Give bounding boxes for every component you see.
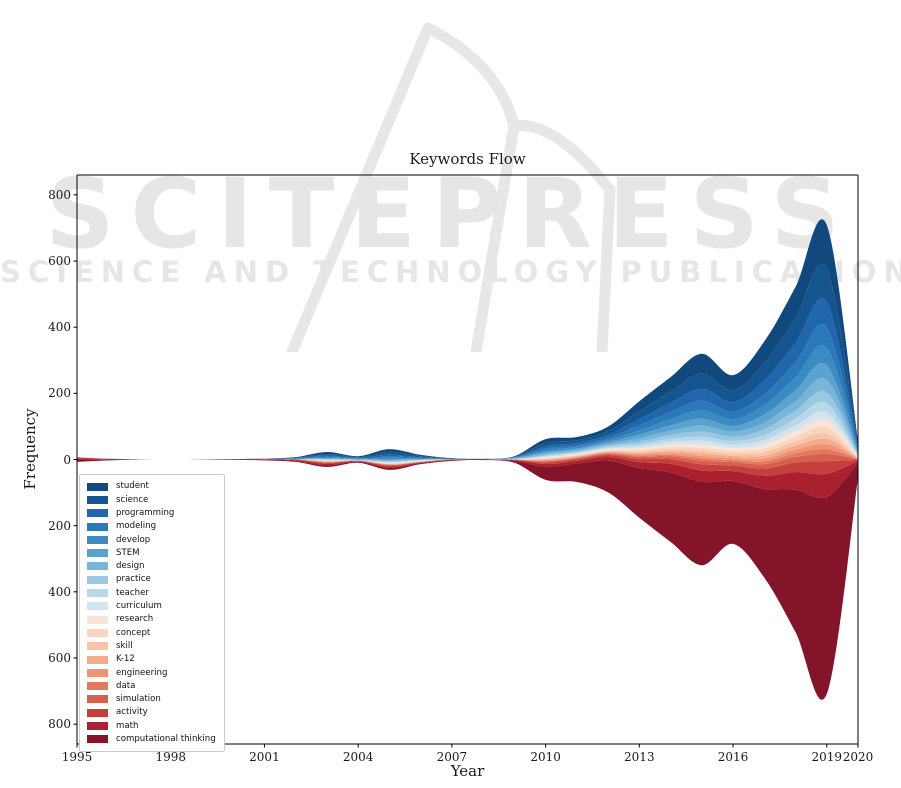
y-tick-label: 400 <box>31 320 71 334</box>
legend-item[interactable]: practice <box>87 573 218 586</box>
legend-item[interactable]: concept <box>87 626 218 639</box>
legend-item[interactable]: curriculum <box>87 600 218 613</box>
figure-canvas: SCITEPRESS SCIENCE AND TECHNOLOGY PUBLIC… <box>0 0 901 784</box>
legend-item-label: science <box>116 496 148 505</box>
legend-color-swatch <box>87 669 108 677</box>
legend-item-label: develop <box>116 536 150 545</box>
legend-color-swatch <box>87 589 108 597</box>
chart-title: Keywords Flow <box>77 150 858 168</box>
y-tick-label: 200 <box>31 519 71 533</box>
y-tick-label: 600 <box>31 254 71 268</box>
legend-item-label: practice <box>116 575 151 584</box>
legend-color-swatch <box>87 562 108 570</box>
legend-item[interactable]: simulation <box>87 693 218 706</box>
legend-item-label: data <box>116 682 135 691</box>
legend-color-swatch <box>87 709 108 717</box>
legend-color-swatch <box>87 523 108 531</box>
legend-item[interactable]: modeling <box>87 520 218 533</box>
legend-item-label: math <box>116 722 138 731</box>
legend-item-label: skill <box>116 642 133 651</box>
legend-item[interactable]: STEM <box>87 546 218 559</box>
legend-item[interactable]: science <box>87 493 218 506</box>
legend-item-label: design <box>116 562 145 571</box>
legend-color-swatch <box>87 509 108 517</box>
legend-color-swatch <box>87 722 108 730</box>
legend-item[interactable]: teacher <box>87 586 218 599</box>
legend-item[interactable]: skill <box>87 640 218 653</box>
legend-item-label: student <box>116 482 149 491</box>
y-tick-label: 400 <box>31 585 71 599</box>
legend-item[interactable]: computational thinking <box>87 733 218 746</box>
legend-color-swatch <box>87 616 108 624</box>
legend-color-swatch <box>87 656 108 664</box>
legend-color-swatch <box>87 536 108 544</box>
legend-item[interactable]: activity <box>87 706 218 719</box>
plot-layer: Keywords Flow 19951998200120042007201020… <box>0 0 901 784</box>
legend-item-label: STEM <box>116 549 140 558</box>
legend-item[interactable]: design <box>87 560 218 573</box>
legend-item[interactable]: math <box>87 719 218 732</box>
y-axis-label: Frequency <box>21 389 39 509</box>
legend-item-label: K-12 <box>116 655 135 664</box>
x-axis-label: Year <box>77 762 858 780</box>
legend-item-label: engineering <box>116 669 167 678</box>
chart-legend[interactable]: studentscienceprogrammingmodelingdevelop… <box>79 474 225 752</box>
legend-color-swatch <box>87 496 108 504</box>
legend-item-label: concept <box>116 629 150 638</box>
legend-item[interactable]: engineering <box>87 666 218 679</box>
legend-color-swatch <box>87 695 108 703</box>
legend-color-swatch <box>87 576 108 584</box>
legend-item-label: curriculum <box>116 602 162 611</box>
legend-color-swatch <box>87 642 108 650</box>
legend-item[interactable]: K-12 <box>87 653 218 666</box>
legend-item-label: computational thinking <box>116 735 216 744</box>
legend-color-swatch <box>87 682 108 690</box>
legend-item-label: activity <box>116 708 148 717</box>
legend-item-label: simulation <box>116 695 161 704</box>
legend-color-swatch <box>87 483 108 491</box>
y-tick-label: 600 <box>31 651 71 665</box>
legend-item[interactable]: programming <box>87 507 218 520</box>
y-tick-label: 800 <box>31 188 71 202</box>
legend-color-swatch <box>87 549 108 557</box>
legend-item-label: research <box>116 615 153 624</box>
legend-item[interactable]: develop <box>87 533 218 546</box>
legend-color-swatch <box>87 629 108 637</box>
legend-color-swatch <box>87 602 108 610</box>
legend-item-label: programming <box>116 509 174 518</box>
y-tick-label: 800 <box>31 717 71 731</box>
legend-item[interactable]: student <box>87 480 218 493</box>
legend-item-label: teacher <box>116 589 149 598</box>
legend-item[interactable]: data <box>87 679 218 692</box>
legend-item-label: modeling <box>116 522 156 531</box>
legend-item[interactable]: research <box>87 613 218 626</box>
legend-color-swatch <box>87 735 108 743</box>
